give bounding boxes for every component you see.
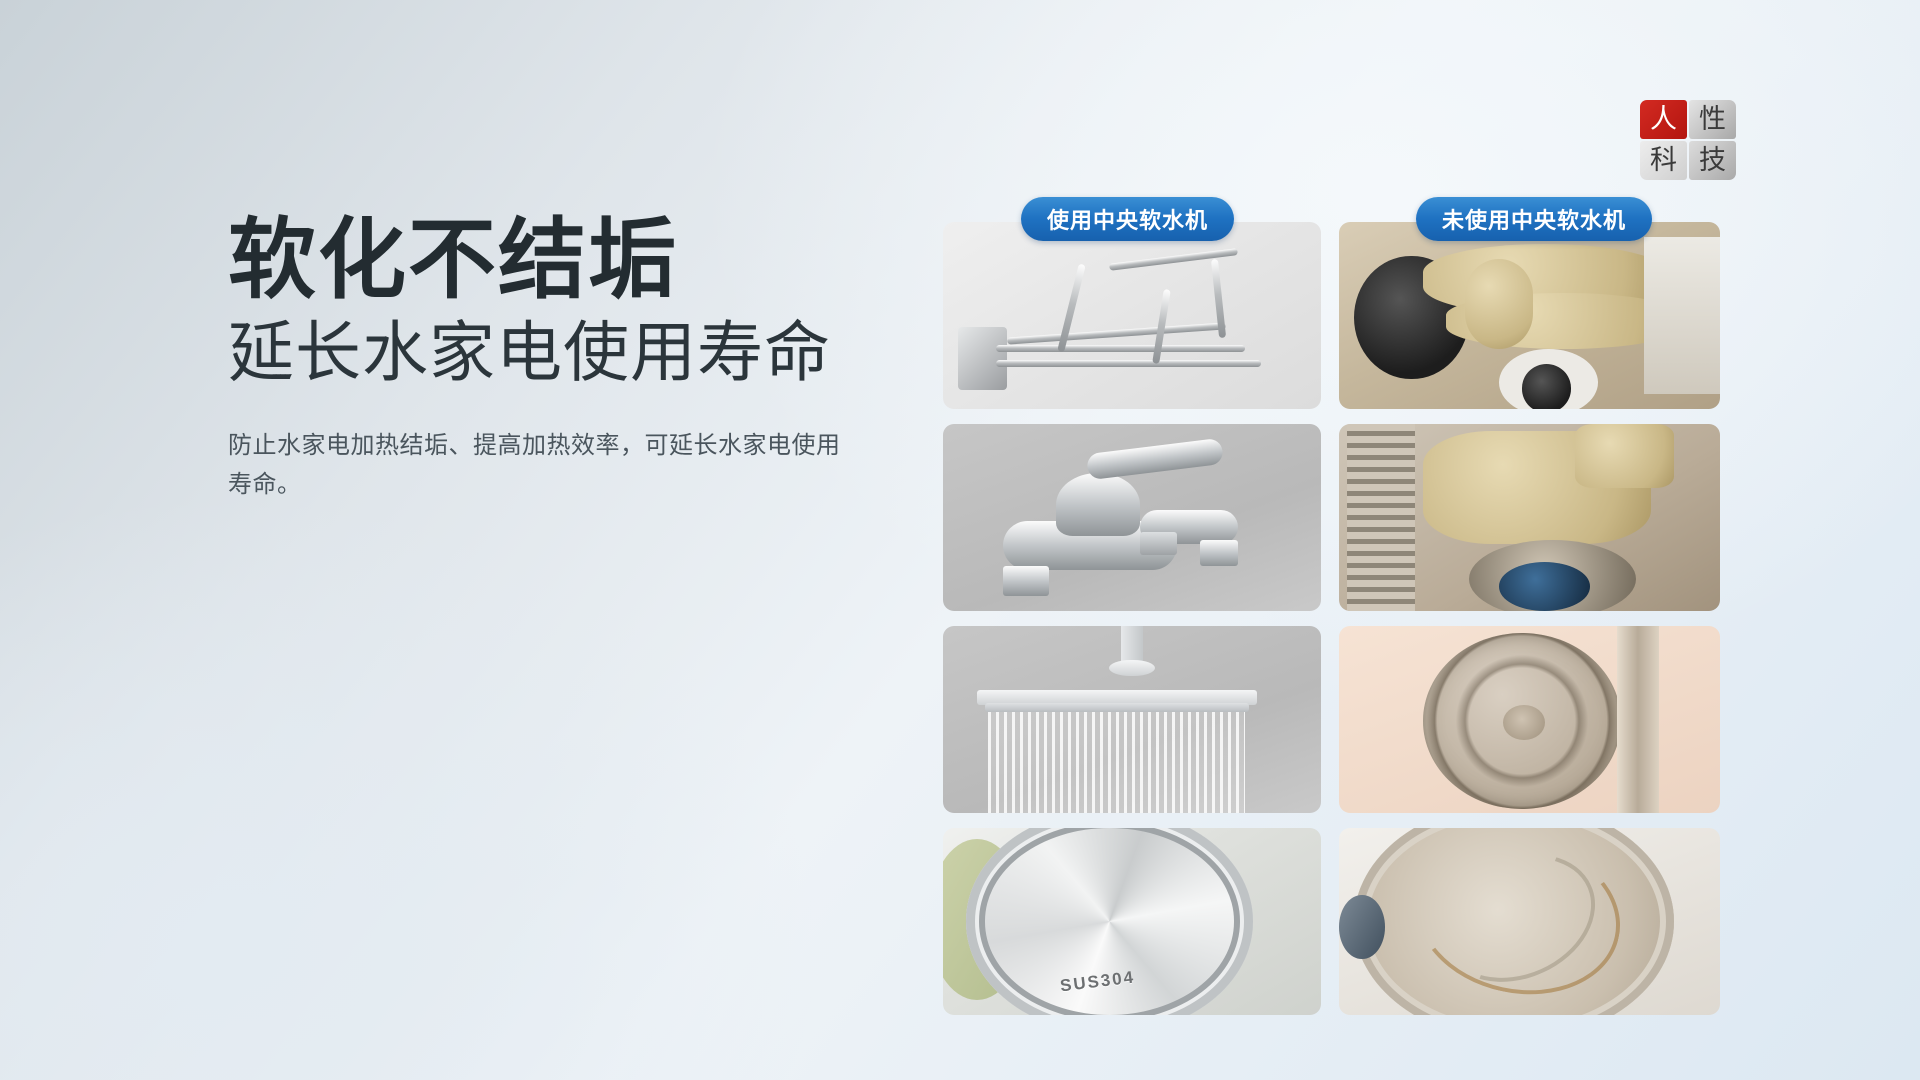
kettle-spout <box>1339 895 1385 959</box>
photo-shower-unsoftened <box>1339 626 1720 813</box>
faucet-aerator <box>1140 532 1178 554</box>
comparison-grid: SUS304 <box>943 222 1698 1035</box>
photo-surface <box>1339 222 1720 409</box>
photo-heating-element-softened <box>943 222 1321 409</box>
shower-joint <box>1109 660 1154 677</box>
brand-logo: 人 性 科 技 <box>1640 100 1736 180</box>
photo-surface: SUS304 <box>943 828 1321 1015</box>
photo-surface <box>1339 626 1720 813</box>
photo-surface <box>1339 828 1720 1015</box>
page-title: 软化不结垢 <box>228 216 928 304</box>
photo-shower-softened <box>943 626 1321 813</box>
faucet-handle <box>1086 438 1224 481</box>
logo-cell-ren: 人 <box>1640 100 1687 139</box>
logo-cell-ke: 科 <box>1640 141 1687 180</box>
logo-cell-ji: 技 <box>1689 141 1736 180</box>
badge-unsoftened: 未使用中央软水机 <box>1416 197 1652 241</box>
photo-surface <box>943 424 1321 611</box>
faucet-foot <box>1200 540 1238 566</box>
faucet-cartridge <box>1056 473 1139 537</box>
description-text: 防止水家电加热结垢、提高加热效率，可延长水家电使用寿命。 <box>228 427 848 505</box>
faucet-foot <box>1003 566 1048 596</box>
outlet-hole <box>1499 562 1590 611</box>
photo-kettle-unsoftened <box>1339 828 1720 1015</box>
water-stream <box>988 712 1245 813</box>
photo-faucet-unsoftened <box>1339 424 1720 611</box>
shower-hose <box>1347 424 1416 611</box>
limescale-deposit <box>1465 259 1534 349</box>
badge-softened: 使用中央软水机 <box>1021 197 1234 241</box>
element-tube <box>996 345 1245 352</box>
shower-head-rim <box>985 703 1250 712</box>
slide-root: 软化不结垢 延长水家电使用寿命 防止水家电加热结垢、提高加热效率，可延长水家电使… <box>0 0 1920 1080</box>
element-base <box>958 327 1007 391</box>
element-tube <box>996 360 1261 367</box>
headline-block: 软化不结垢 延长水家电使用寿命 防止水家电加热结垢、提高加热效率，可延长水家电使… <box>228 216 928 505</box>
shower-handle <box>1617 626 1659 813</box>
page-subtitle: 延长水家电使用寿命 <box>228 318 928 387</box>
photo-surface <box>1339 424 1720 611</box>
photo-surface <box>943 222 1321 409</box>
logo-cell-xing: 性 <box>1689 100 1736 139</box>
photo-kettle-softened: SUS304 <box>943 828 1321 1015</box>
center-nozzle <box>1503 705 1545 741</box>
element-tube <box>1007 323 1226 345</box>
valve-knob <box>1575 424 1674 488</box>
background-panel <box>1644 237 1720 394</box>
photo-heating-element-unsoftened <box>1339 222 1720 409</box>
photo-faucet-softened <box>943 424 1321 611</box>
photo-surface <box>943 626 1321 813</box>
drain-hole <box>1522 364 1572 409</box>
